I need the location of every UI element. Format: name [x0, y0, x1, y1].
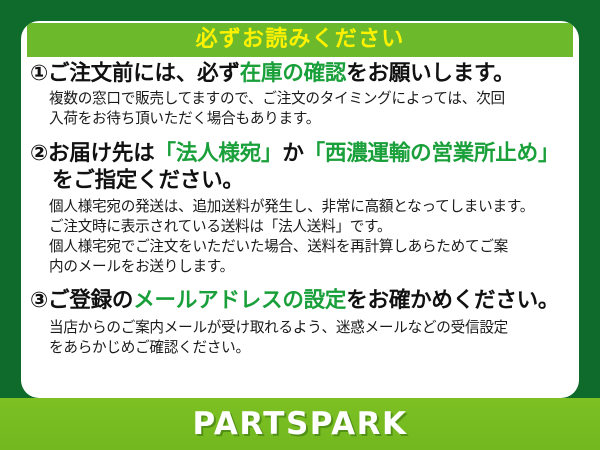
item-3-body-line-2: をあらかじめご確認ください。: [49, 338, 571, 358]
item-2-body-line-2: ご注文時に表示されている送料は「法人送料」です。: [49, 217, 571, 237]
header-banner: 必ずお読みください: [27, 23, 573, 57]
item-2-heading-pre: お届け先は: [48, 141, 155, 166]
item-3-marker: ③: [30, 288, 48, 313]
item-2-body-line-1: 個人様宅宛の発送は、追加送料が発生し、非常に高額となってしまいます。: [49, 197, 571, 217]
item-2-body: 個人様宅宛の発送は、追加送料が発生し、非常に高額となってしまいます。 ご注文時に…: [30, 194, 571, 278]
item-2-heading-continuation: をご指定ください。: [30, 168, 571, 194]
item-2-heading-highlight: 「法人様宛」: [155, 141, 283, 166]
item-1-body-line-1: 複数の窓口で販売してますので、ご注文のタイミングによっては、次回: [49, 89, 571, 109]
item-1-body-line-2: 入荷をお待ち頂いただく場合もあります。: [49, 109, 571, 129]
item-1-marker: ①: [30, 61, 48, 86]
item-3-heading-pre: ご登録の: [48, 288, 133, 313]
item-1-heading-pre: ご注文前には、必ず: [48, 61, 240, 86]
item-1-heading-post: をお願いします。: [346, 61, 514, 86]
item-2-body-line-3: 個人様宅宛でご注文をいただいた場合、送料を再計算しあらためてご案: [49, 237, 571, 257]
item-2-body-line-4: 内のメールをお送りします。: [49, 257, 571, 277]
item-2-heading: ②お届け先は「法人様宛」か「西濃運輸の営業所止め」: [30, 141, 571, 167]
notice-body: ①ご注文前には、必ず在庫の確認をお願いします。 複数の窓口で販売してますので、ご…: [21, 59, 579, 398]
item-3-heading-highlight: メールアドレスの設定: [133, 288, 346, 313]
notice-card: 必ずお読みください ①ご注文前には、必ず在庫の確認をお願いします。 複数の窓口で…: [21, 21, 579, 398]
item-1-heading-highlight: 在庫の確認: [240, 61, 347, 86]
item-3-body-line-1: 当店からのご案内メールが受け取れるよう、迷惑メールなどの受信設定: [49, 318, 571, 338]
notice-item-1: ①ご注文前には、必ず在庫の確認をお願いします。 複数の窓口で販売してますので、ご…: [30, 59, 571, 129]
item-3-body: 当店からのご案内メールが受け取れるよう、迷惑メールなどの受信設定 をあらかじめご…: [30, 315, 571, 358]
brand-footer-band: PARTSPARK: [0, 398, 600, 450]
item-3-heading: ③ご登録のメールアドレスの設定をお確かめください。: [30, 288, 571, 314]
notice-item-2: ②お届け先は「法人様宛」か「西濃運輸の営業所止め」 をご指定ください。 個人様宅…: [30, 129, 571, 277]
item-2-marker: ②: [30, 141, 48, 166]
item-1-heading: ①ご注文前には、必ず在庫の確認をお願いします。: [30, 61, 571, 87]
brand-name: PARTSPARK: [192, 409, 407, 440]
notice-image-root: 必ずお読みください ①ご注文前には、必ず在庫の確認をお願いします。 複数の窓口で…: [0, 0, 600, 450]
notice-item-3: ③ご登録のメールアドレスの設定をお確かめください。 当店からのご案内メールが受け…: [30, 277, 571, 357]
item-2-heading-mid: か: [282, 141, 303, 166]
header-title: 必ずお読みください: [196, 29, 405, 51]
item-2-heading-highlight-2: 「西濃運輸の営業所止め」: [304, 141, 560, 166]
item-3-heading-post: をお確かめください。: [346, 288, 559, 313]
item-1-body: 複数の窓口で販売してますので、ご注文のタイミングによっては、次回 入荷をお待ち頂…: [30, 87, 571, 129]
